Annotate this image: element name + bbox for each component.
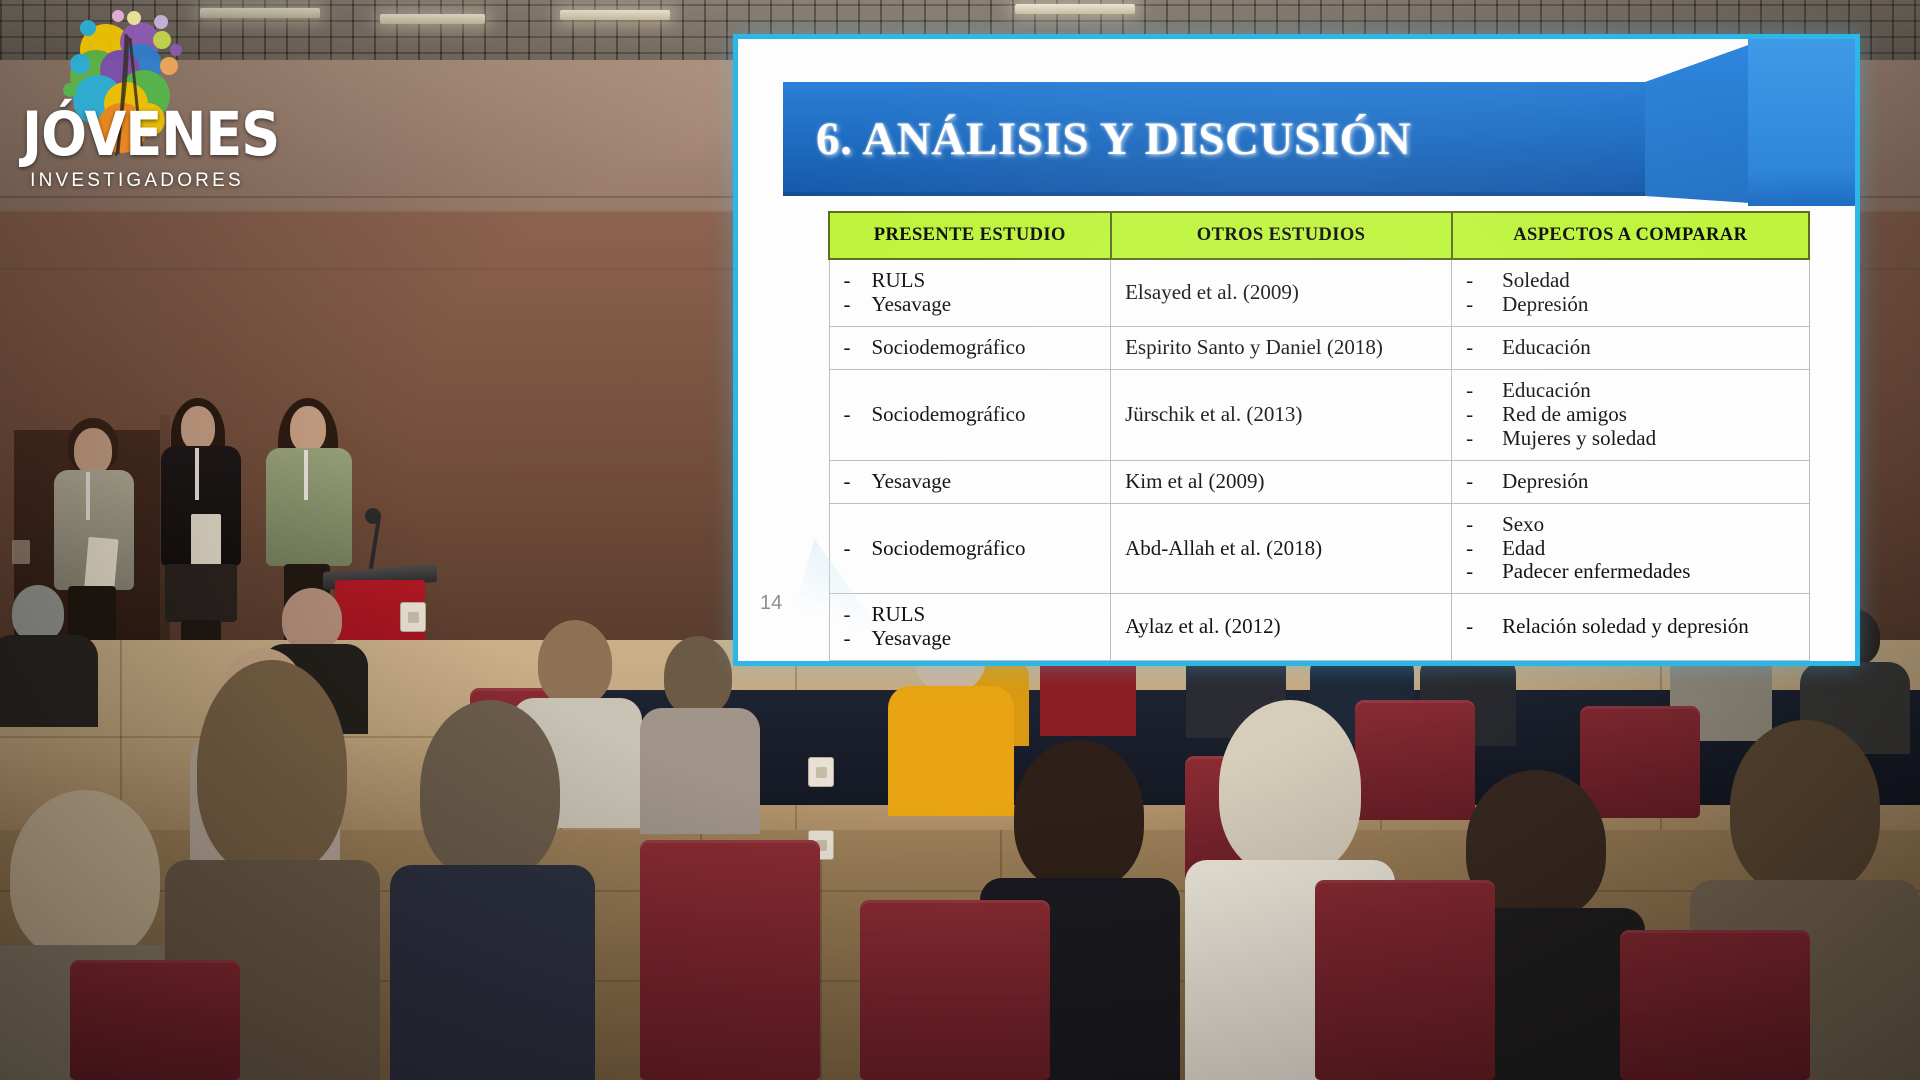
- banner-accent-block: [1748, 39, 1855, 206]
- projected-slide: 6. ANÁLISIS Y DISCUSIÓN PRESENTE ESTUDIO…: [733, 34, 1860, 666]
- bullet-marker: -: [844, 336, 866, 360]
- cell-otros-estudios: Espirito Santo y Daniel (2018): [1111, 326, 1452, 369]
- presenter-head: [74, 428, 112, 474]
- cell-otros-estudios: Jürschik et al. (2013): [1111, 369, 1452, 460]
- video-frame: JÓVENES INVESTIGADORES 6. ANÁLISIS Y DIS…: [0, 0, 1920, 1080]
- table-row: -Sociodemográfico Abd-Allah et al. (2018…: [829, 503, 1809, 594]
- slide-canvas: 6. ANÁLISIS Y DISCUSIÓN PRESENTE ESTUDIO…: [738, 39, 1855, 661]
- bullet-marker: -: [844, 537, 866, 561]
- table-header-row: PRESENTE ESTUDIO OTROS ESTUDIOS ASPECTOS…: [829, 212, 1809, 259]
- column-header-aspectos-a-comparar: ASPECTOS A COMPARAR: [1452, 212, 1809, 259]
- cell-item: Depresión: [1502, 293, 1588, 317]
- chair: [70, 960, 240, 1080]
- bullet-marker: -: [1466, 427, 1496, 451]
- table-row: -Yesavage Kim et al (2009) -Depresión: [829, 460, 1809, 503]
- cell-presente-estudio: -RULS -Yesavage: [829, 259, 1111, 326]
- bullet-marker: -: [1466, 293, 1496, 317]
- slide-page-number: 14: [760, 592, 782, 615]
- cell-item: Mujeres y soledad: [1502, 427, 1656, 451]
- cell-presente-estudio: -Sociodemográfico: [829, 326, 1111, 369]
- banner-fold-decoration: [1645, 39, 1765, 239]
- chair: [1315, 880, 1495, 1080]
- cell-item: Soledad: [1502, 269, 1570, 293]
- chair: [640, 840, 820, 1080]
- chair: [1620, 930, 1810, 1080]
- cell-aspectos: -Relación soledad y depresión: [1452, 594, 1809, 661]
- slide-title: 6. ANÁLISIS Y DISCUSIÓN: [816, 112, 1411, 166]
- bullet-marker: -: [844, 627, 866, 651]
- cell-item: Educación: [1502, 379, 1591, 403]
- bullet-marker: -: [1466, 560, 1496, 584]
- table-row: -RULS -Yesavage Aylaz et al. (2012) -Rel…: [829, 594, 1809, 661]
- bullet-marker: -: [1466, 513, 1496, 537]
- comparison-table: PRESENTE ESTUDIO OTROS ESTUDIOS ASPECTOS…: [828, 211, 1810, 661]
- table-row: -Sociodemográfico Jürschik et al. (2013)…: [829, 369, 1809, 460]
- cell-item: Yesavage: [872, 627, 952, 651]
- cell-aspectos: -Educación -Red de amigos -Mujeres y sol…: [1452, 369, 1809, 460]
- slide-title-banner: 6. ANÁLISIS Y DISCUSIÓN: [783, 82, 1645, 196]
- column-header-otros-estudios: OTROS ESTUDIOS: [1111, 212, 1452, 259]
- bullet-marker: -: [1466, 336, 1496, 360]
- cell-otros-estudios: Aylaz et al. (2012): [1111, 594, 1452, 661]
- cell-presente-estudio: -Sociodemográfico: [829, 503, 1111, 594]
- cell-otros-estudios: Abd-Allah et al. (2018): [1111, 503, 1452, 594]
- wall-socket: [400, 602, 426, 632]
- bullet-marker: -: [844, 293, 866, 317]
- lanyard: [304, 450, 308, 500]
- bullet-marker: -: [1466, 470, 1496, 494]
- cell-aspectos: -Sexo -Edad -Padecer enfermedades: [1452, 503, 1809, 594]
- bullet-marker: -: [844, 470, 866, 494]
- cell-aspectos: -Educación: [1452, 326, 1809, 369]
- ceiling-lamp: [1015, 4, 1135, 14]
- bullet-marker: -: [844, 403, 866, 427]
- cell-aspectos: -Depresión: [1452, 460, 1809, 503]
- cell-item: Educación: [1502, 336, 1591, 360]
- bullet-marker: -: [1466, 403, 1496, 427]
- cell-item: Sociodemográfico: [872, 336, 1026, 360]
- presenter-head: [181, 406, 215, 450]
- cell-otros-estudios: Elsayed et al. (2009): [1111, 259, 1452, 326]
- presenter-skirt: [165, 564, 237, 622]
- ceiling-lamp: [560, 10, 670, 20]
- wall-switch-plate: [12, 540, 30, 564]
- audience-member: [0, 585, 100, 725]
- cell-item: RULS: [872, 603, 926, 627]
- logo-line-2: INVESTIGADORES: [22, 171, 252, 190]
- bullet-marker: -: [1466, 615, 1496, 639]
- cell-otros-estudios: Kim et al (2009): [1111, 460, 1452, 503]
- cell-item: RULS: [872, 269, 926, 293]
- cell-item: Edad: [1502, 537, 1545, 561]
- lanyard: [195, 448, 199, 500]
- cell-item: Sexo: [1502, 513, 1544, 537]
- ceiling-lamp: [380, 14, 485, 24]
- cell-item: Sociodemográfico: [872, 537, 1026, 561]
- microphone-head: [365, 508, 381, 524]
- cell-item: Depresión: [1502, 470, 1588, 494]
- cell-item: Relación soledad y depresión: [1502, 615, 1749, 639]
- table-row: -Sociodemográfico Espirito Santo y Danie…: [829, 326, 1809, 369]
- cell-item: Yesavage: [872, 293, 952, 317]
- cell-item: Red de amigos: [1502, 403, 1627, 427]
- cell-aspectos: -Soledad -Depresión: [1452, 259, 1809, 326]
- presenter: [155, 398, 251, 668]
- wall-socket: [808, 757, 834, 787]
- bullet-marker: -: [1466, 379, 1496, 403]
- cell-presente-estudio: -Sociodemográfico: [829, 369, 1111, 460]
- bullet-marker: -: [844, 269, 866, 293]
- table-row: -RULS -Yesavage Elsayed et al. (2009) -S…: [829, 259, 1809, 326]
- logo-line-1: JÓVENES: [22, 105, 252, 165]
- column-header-presente-estudio: PRESENTE ESTUDIO: [829, 212, 1111, 259]
- cell-item: Padecer enfermedades: [1502, 560, 1690, 584]
- cell-presente-estudio: -RULS -Yesavage: [829, 594, 1111, 661]
- cell-item: Sociodemográfico: [872, 403, 1026, 427]
- cell-presente-estudio: -Yesavage: [829, 460, 1111, 503]
- bullet-marker: -: [844, 603, 866, 627]
- audience-member: [390, 700, 595, 1080]
- lanyard: [86, 472, 90, 520]
- presenter-head: [290, 406, 326, 452]
- bullet-marker: -: [1466, 537, 1496, 561]
- presenter-body: [266, 448, 352, 566]
- bullet-marker: -: [1466, 269, 1496, 293]
- chair: [860, 900, 1050, 1080]
- cell-item: Yesavage: [872, 470, 952, 494]
- logo-wordmark: JÓVENES INVESTIGADORES: [22, 108, 252, 190]
